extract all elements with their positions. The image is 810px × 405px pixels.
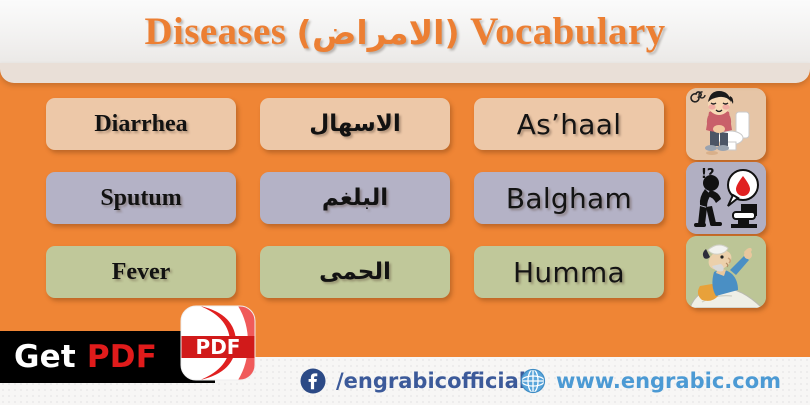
english-term-cell: Fever — [46, 246, 236, 298]
title-arabic: (الامراض) — [296, 13, 460, 52]
arabic-term-label: الاسهال — [309, 111, 400, 137]
transliteration-label: As’haal — [517, 108, 622, 141]
table-row: Fever الحمى Humma — [0, 243, 810, 301]
transliteration-cell: Balgham — [474, 172, 664, 224]
pdf-file-icon[interactable]: PDF — [178, 303, 258, 383]
table-row: Sputum البلغم Balgham !? — [0, 169, 810, 227]
sick-person-in-bed-illustration — [686, 236, 766, 308]
table-row: Diarrhea الاسهال As’haal — [0, 95, 810, 153]
facebook-icon — [300, 368, 326, 394]
title-english-left: Diseases — [144, 10, 286, 53]
english-term-label: Fever — [112, 259, 171, 286]
pdf-icon-text: PDF — [196, 335, 241, 359]
website-link[interactable]: www.engrabic.com — [520, 361, 781, 401]
globe-icon — [520, 368, 546, 394]
transliteration-cell: As’haal — [474, 98, 664, 150]
arabic-term-label: الحمى — [319, 259, 391, 285]
facebook-handle-label: /engrabicofficial — [336, 369, 526, 393]
facebook-link[interactable]: /engrabicofficial — [300, 361, 526, 401]
arabic-term-label: البلغم — [322, 185, 388, 211]
transliteration-label: Balgham — [506, 182, 632, 215]
header-accent-bar — [0, 63, 810, 83]
person-coughing-blood-pictogram: !? — [686, 162, 766, 234]
english-term-label: Sputum — [100, 185, 181, 212]
arabic-term-cell: الاسهال — [260, 98, 450, 150]
transliteration-label: Humma — [513, 256, 625, 289]
arabic-term-cell: البلغم — [260, 172, 450, 224]
transliteration-cell: Humma — [474, 246, 664, 298]
pdf-label: PDF — [87, 339, 157, 375]
vocabulary-grid: Diarrhea الاسهال As’haal — [0, 95, 810, 323]
get-pdf-label: Get PDF — [14, 339, 157, 375]
get-label: Get — [14, 339, 87, 375]
english-term-cell: Diarrhea — [46, 98, 236, 150]
infographic-page: Diseases (الامراض) Vocabulary Diarrhea ا… — [0, 0, 810, 405]
title-english-right: Vocabulary — [470, 10, 665, 53]
page-title: Diseases (الامراض) Vocabulary — [144, 9, 665, 54]
person-on-toilet-illustration — [686, 88, 766, 160]
english-term-label: Diarrhea — [94, 111, 187, 138]
arabic-term-cell: الحمى — [260, 246, 450, 298]
english-term-cell: Sputum — [46, 172, 236, 224]
header-banner: Diseases (الامراض) Vocabulary — [0, 0, 810, 63]
website-url-label: www.engrabic.com — [556, 369, 781, 393]
